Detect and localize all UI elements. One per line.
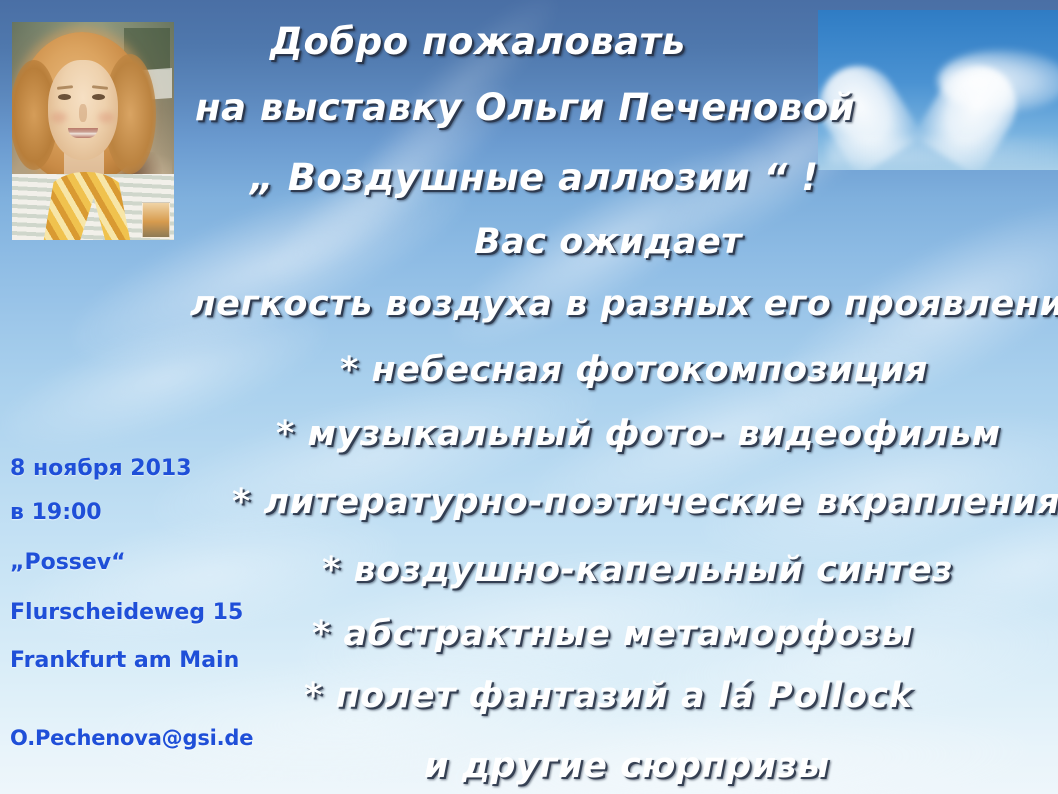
- body-list-item: * музыкальный фото- видеофильм: [276, 414, 1001, 454]
- body-line-awaits: Вас ожидает: [474, 222, 742, 262]
- heart-shape-icon: [846, 36, 996, 136]
- headline-line-welcome: Добро пожаловать: [270, 20, 686, 63]
- body-list-item: и другие сюрпризы: [424, 746, 830, 786]
- portrait-eye: [58, 94, 71, 100]
- portrait-cheek: [98, 112, 114, 123]
- contact-email[interactable]: O.Pechenova@gsi.de: [10, 726, 253, 750]
- body-list-item: * воздушно-капельный синтез: [322, 550, 953, 590]
- event-time: в 19:00: [10, 500, 102, 525]
- event-street-address: Flurscheideweg 15: [10, 600, 243, 625]
- portrait-face: [48, 60, 118, 160]
- cloud-wisp: [828, 138, 1058, 164]
- event-date: 8 ноября 2013: [10, 456, 192, 481]
- body-list-item: * полет фантазий a lá Pollock: [304, 676, 912, 716]
- body-line-lead: легкость воздуха в разных его проявления…: [190, 284, 1058, 324]
- portrait-cheek: [51, 112, 67, 123]
- portrait-eyebrow: [57, 85, 73, 90]
- event-city: Frankfurt am Main: [10, 648, 239, 673]
- portrait-nose: [79, 104, 87, 122]
- portrait-badge: [142, 202, 170, 238]
- body-list-item: * небесная фотокомпозиция: [340, 350, 928, 390]
- headline-line-exhibition-title: „ Воздушные аллюзии “ !: [250, 156, 819, 199]
- body-list-item: * абстрактные метаморфозы: [312, 614, 913, 654]
- body-list-item: * литературно-поэтические вкрапления: [232, 482, 1058, 522]
- cloud-wisp: [635, 578, 1058, 742]
- portrait-mouth: [68, 128, 98, 138]
- portrait-eyebrow: [92, 85, 108, 90]
- headline-line-exhibition: на выставку Ольги Печеновой: [195, 86, 855, 129]
- poster-canvas: Добро пожаловать на выставку Ольги Печен…: [0, 0, 1058, 794]
- portrait-eye: [92, 94, 105, 100]
- artist-portrait-photo: [12, 22, 174, 240]
- event-venue: „Possev“: [10, 550, 126, 575]
